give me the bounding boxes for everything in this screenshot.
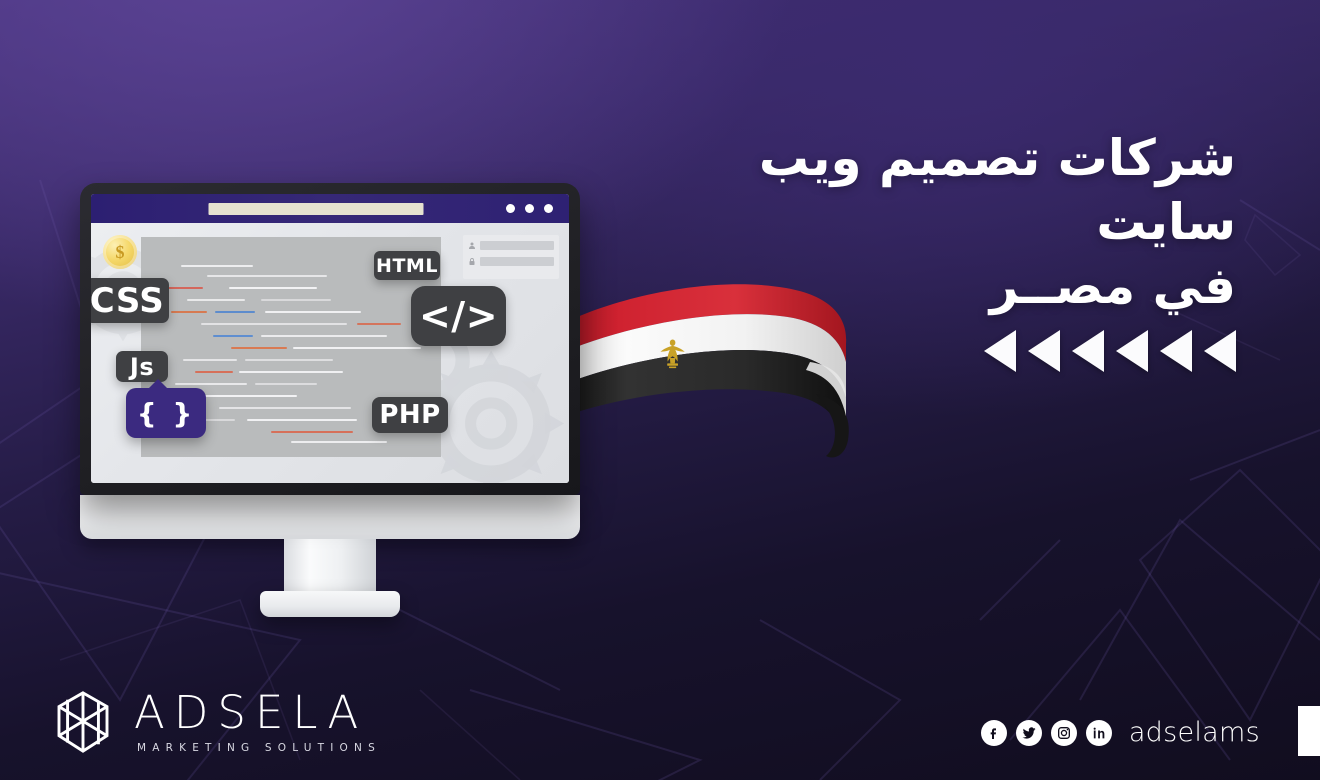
user-icon xyxy=(468,241,476,250)
left-arrow-icon xyxy=(984,330,1016,372)
window-dot-icon[interactable] xyxy=(544,204,553,213)
monitor-screen: $ xyxy=(91,194,569,483)
egypt-flag xyxy=(548,270,878,460)
browser-toolbar xyxy=(91,194,569,223)
left-arrow-icon xyxy=(1204,330,1236,372)
badge-css: CSS xyxy=(91,278,169,323)
left-arrow-icon xyxy=(1072,330,1104,372)
edge-accent-block xyxy=(1298,706,1320,756)
badge-php: PHP xyxy=(372,397,448,433)
left-arrow-icon xyxy=(1116,330,1148,372)
left-arrow-icon xyxy=(1160,330,1192,372)
monitor-base xyxy=(260,591,400,617)
facebook-icon[interactable] xyxy=(981,720,1007,746)
badge-code-tag: </> xyxy=(411,286,506,346)
window-dot-icon[interactable] xyxy=(506,204,515,213)
monitor-chin xyxy=(80,495,580,539)
poster-canvas: شركات تصميم ويب سايت في مصــر xyxy=(0,0,1320,780)
linkedin-icon[interactable] xyxy=(1086,720,1112,746)
social-row: adselams xyxy=(981,717,1260,748)
adsela-cube-logo-icon xyxy=(48,686,118,758)
username-row xyxy=(468,241,554,250)
login-panel xyxy=(463,235,559,279)
monitor-neck xyxy=(284,539,376,591)
social-handle: adselams xyxy=(1129,717,1260,748)
brand-tagline: MARKETING SOLUTIONS xyxy=(137,742,381,754)
password-row xyxy=(468,257,554,266)
monitor: $ xyxy=(80,183,580,617)
left-arrow-icon xyxy=(1028,330,1060,372)
window-dot-icon[interactable] xyxy=(525,204,534,213)
brand-logo: ADSELA MARKETING SOLUTIONS xyxy=(48,686,381,758)
address-bar[interactable] xyxy=(208,203,423,215)
badge-html: HTML xyxy=(374,251,440,280)
headline-line-1: شركات تصميم ويب سايت xyxy=(759,129,1236,251)
brand-text: ADSELA MARKETING SOLUTIONS xyxy=(134,690,381,754)
window-controls[interactable] xyxy=(506,204,553,213)
arrow-row xyxy=(984,330,1236,372)
twitter-icon[interactable] xyxy=(1016,720,1042,746)
monitor-bezel: $ xyxy=(80,183,580,495)
badge-curly-braces: { } xyxy=(126,388,206,438)
instagram-icon[interactable] xyxy=(1051,720,1077,746)
coin-dollar-icon: $ xyxy=(103,235,137,269)
username-field[interactable] xyxy=(480,241,554,250)
lock-icon xyxy=(468,257,476,266)
badge-js: Js xyxy=(116,351,168,382)
browser-page: $ xyxy=(91,223,569,483)
password-field[interactable] xyxy=(480,257,554,266)
brand-name: ADSELA xyxy=(134,690,381,735)
